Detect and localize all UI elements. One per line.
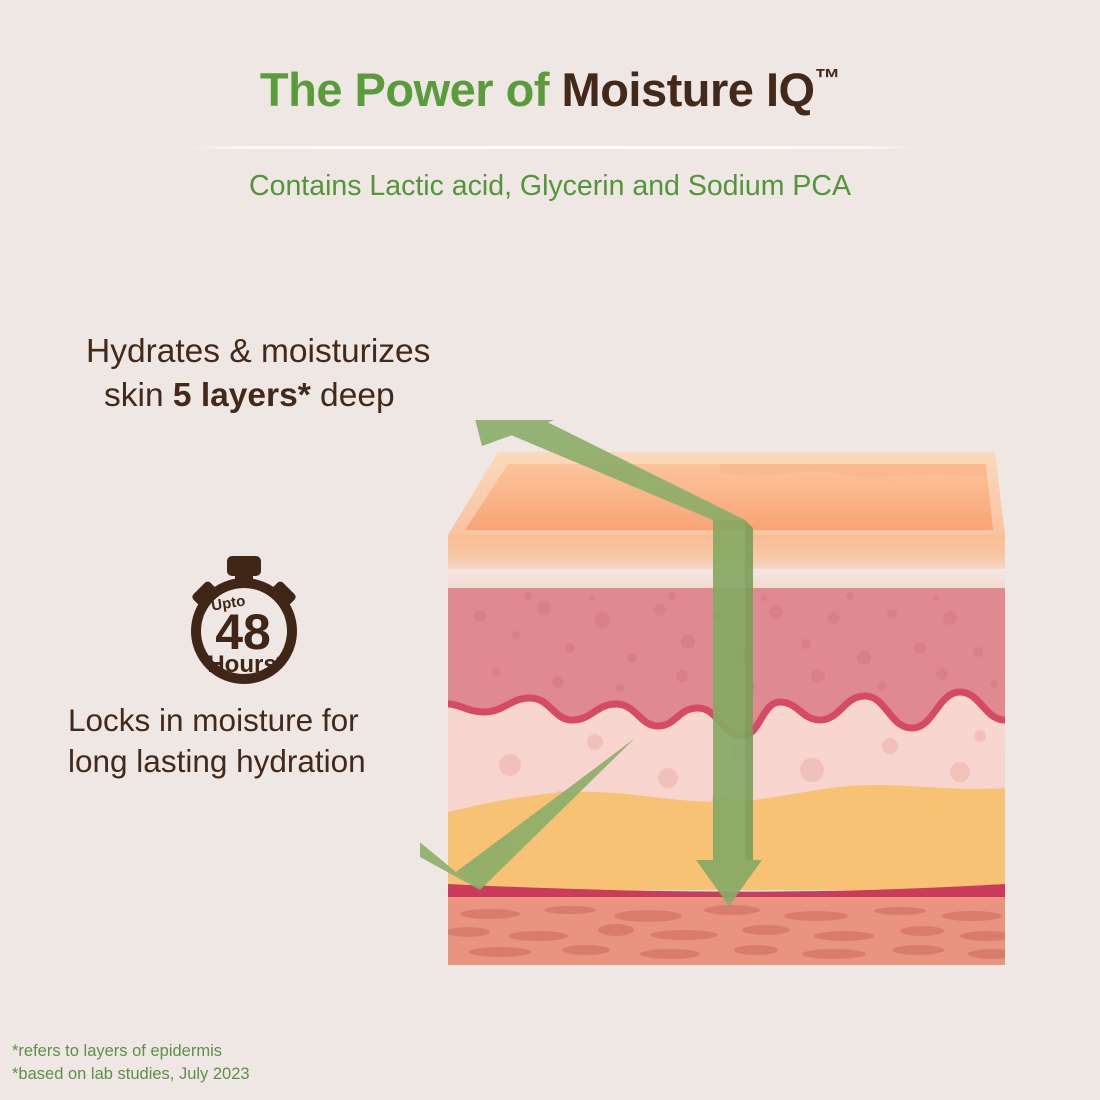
callout-hydrates-line2-pre: skin [104,377,173,414]
stopwatch-unit: Hours [207,651,276,678]
subtitle: Contains Lactic acid, Glycerin and Sodiu… [0,170,1100,203]
footnote-epidermis: *refers to layers of epidermis [12,1040,250,1063]
page-title: The Power of Moisture IQ™ [0,62,1100,117]
callout-hydrates-emphasis: 5 layers* [173,377,311,414]
page-title-green-part: The Power of [260,63,562,116]
callout-locks-moisture: Locks in moisture for long lasting hydra… [68,700,468,782]
stopwatch-48-hours-icon: Upto 48 Hours [183,552,305,685]
title-divider [186,146,921,149]
callout-locks-line1: Locks in moisture for [68,700,468,741]
callout-hydrates-line2: skin 5 layers* deep [104,374,506,418]
skin-cross-section-diagram [420,420,1040,990]
footnotes: *refers to layers of epidermis*based on … [12,1040,250,1087]
stopwatch-unit-mark [277,657,282,662]
callout-hydrates-line1: Hydrates & moisturizes [86,330,506,374]
callout-locks-line2: long lasting hydration [68,741,468,782]
trademark-symbol: ™ [815,63,841,93]
infographic-canvas: The Power of Moisture IQ™ Contains Lacti… [0,0,1100,1100]
callout-hydrates-line2-post: deep [311,377,395,414]
page-title-brown-part: Moisture IQ [562,63,815,116]
callout-hydrates: Hydrates & moisturizes skin 5 layers* de… [86,330,506,417]
footnote-lab-studies: *based on lab studies, July 2023 [12,1063,250,1086]
